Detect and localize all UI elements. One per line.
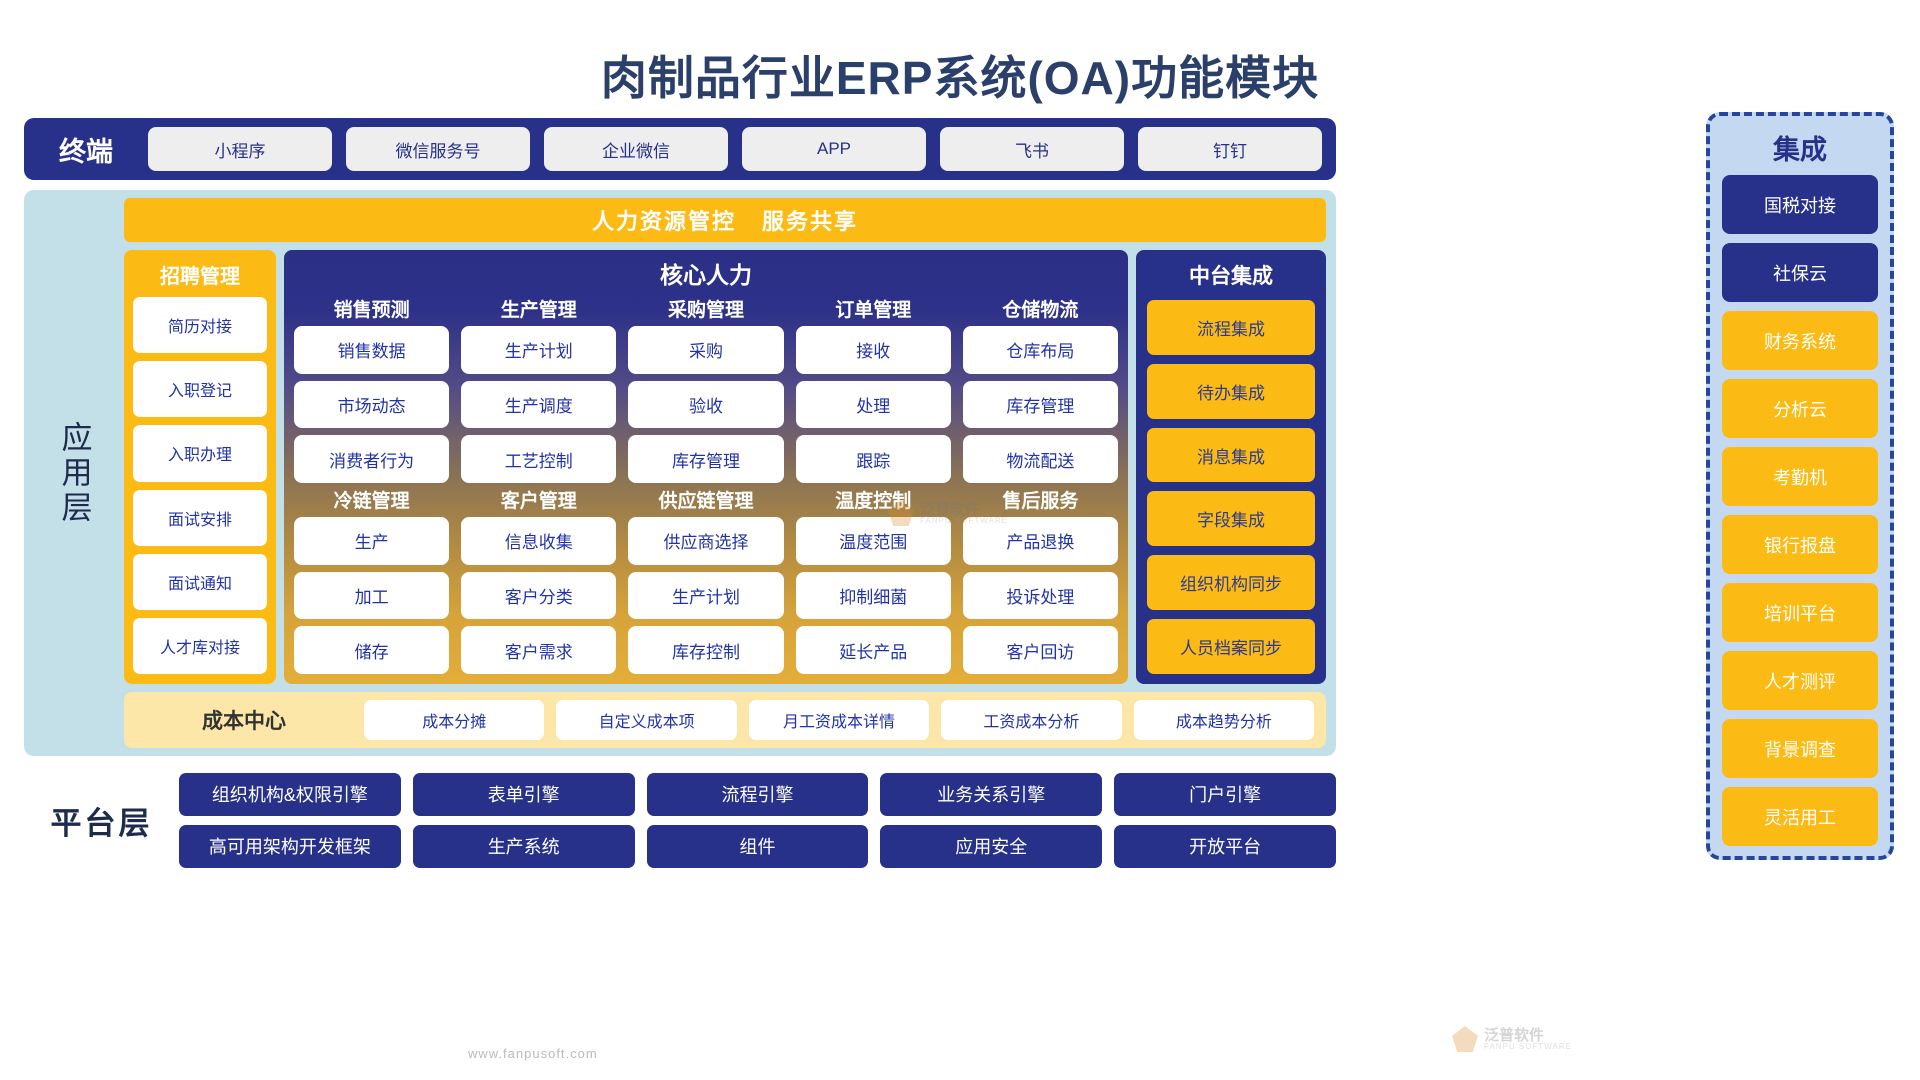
core-cell-temp-range[interactable]: 温度范围 bbox=[796, 517, 951, 565]
platform-item-ha-framework[interactable]: 高可用架构开发框架 bbox=[179, 825, 401, 868]
core-head-sales-forecast: 销售预测 bbox=[294, 295, 449, 322]
midplatform-item-list: 流程集成 待办集成 消息集成 字段集成 组织机构同步 人员档案同步 bbox=[1147, 300, 1315, 674]
application-layer-label: 应用层 bbox=[52, 421, 97, 526]
core-block-1-heads: 销售预测 生产管理 采购管理 订单管理 仓储物流 bbox=[294, 292, 1118, 326]
watermark-brand: 泛普软件 bbox=[1484, 1028, 1572, 1043]
core-head-cold-chain: 冷链管理 bbox=[294, 486, 449, 513]
core-block-2-cells: 生产 信息收集 供应商选择 温度范围 产品退换 加工 客户分类 生产计划 bbox=[294, 517, 1118, 674]
core-cell-production-schedule[interactable]: 生产调度 bbox=[461, 381, 616, 429]
core-cell-inventory-control[interactable]: 库存控制 bbox=[628, 626, 783, 674]
core-block-1-row-2: 市场动态 生产调度 验收 处理 库存管理 bbox=[294, 381, 1118, 429]
core-cell-sc-production-plan[interactable]: 生产计划 bbox=[628, 572, 783, 620]
platform-layer-grid: 组织机构&权限引擎 表单引擎 流程引擎 业务关系引擎 门户引擎 高可用架构开发框… bbox=[179, 773, 1336, 868]
core-hr-grid: 销售预测 生产管理 采购管理 订单管理 仓储物流 销售数据 生产计划 bbox=[294, 292, 1118, 674]
midplat-item-org-sync[interactable]: 组织机构同步 bbox=[1147, 555, 1315, 610]
terminal-item-app[interactable]: APP bbox=[742, 127, 926, 171]
page-title: 肉制品行业ERP系统(OA)功能模块 bbox=[0, 42, 1920, 108]
core-cell-inventory-mgmt[interactable]: 库存管理 bbox=[963, 381, 1118, 429]
core-cell-customer-demand[interactable]: 客户需求 bbox=[461, 626, 616, 674]
watermark-url: www.fanpusoft.com bbox=[468, 1046, 598, 1061]
core-cell-cc-production[interactable]: 生产 bbox=[294, 517, 449, 565]
terminal-label: 终端 bbox=[24, 130, 148, 169]
recruit-item-resume[interactable]: 简历对接 bbox=[133, 297, 267, 353]
core-block-1-row-3: 消费者行为 工艺控制 库存管理 跟踪 物流配送 bbox=[294, 435, 1118, 483]
core-cell-production-plan[interactable]: 生产计划 bbox=[461, 326, 616, 374]
core-block-2-row-2: 加工 客户分类 生产计划 抑制细菌 投诉处理 bbox=[294, 572, 1118, 620]
terminal-item-wecom[interactable]: 企业微信 bbox=[544, 127, 728, 171]
terminal-item-miniprogram[interactable]: 小程序 bbox=[148, 127, 332, 171]
integration-item-analytics-cloud[interactable]: 分析云 bbox=[1722, 379, 1878, 438]
recruit-item-onboard-process[interactable]: 入职办理 bbox=[133, 425, 267, 481]
recruit-item-onboard-register[interactable]: 入职登记 bbox=[133, 361, 267, 417]
integration-item-background-check[interactable]: 背景调查 bbox=[1722, 719, 1878, 778]
poster-root: 肉制品行业ERP系统(OA)功能模块 终端 小程序 微信服务号 企业微信 APP… bbox=[0, 0, 1920, 1080]
integration-item-list: 国税对接 社保云 财务系统 分析云 考勤机 银行报盘 培训平台 人才测评 背景调… bbox=[1722, 175, 1878, 846]
cost-center-label: 成本中心 bbox=[124, 705, 364, 735]
platform-item-portal-engine[interactable]: 门户引擎 bbox=[1114, 773, 1336, 816]
core-cell-warehouse-layout[interactable]: 仓库布局 bbox=[963, 326, 1118, 374]
core-cell-purchase[interactable]: 采购 bbox=[628, 326, 783, 374]
core-block-1-cells: 销售数据 生产计划 采购 接收 仓库布局 市场动态 生产调度 验收 bbox=[294, 326, 1118, 483]
core-head-order-mgmt: 订单管理 bbox=[796, 295, 951, 322]
integration-panel: 集成 国税对接 社保云 财务系统 分析云 考勤机 银行报盘 培训平台 人才测评 … bbox=[1706, 112, 1894, 860]
platform-item-process-engine[interactable]: 流程引擎 bbox=[647, 773, 869, 816]
core-head-customer-mgmt: 客户管理 bbox=[461, 486, 616, 513]
core-cell-receive[interactable]: 接收 bbox=[796, 326, 951, 374]
recruit-item-list: 简历对接 入职登记 入职办理 面试安排 面试通知 人才库对接 bbox=[133, 297, 267, 674]
recruit-item-interview-notice[interactable]: 面试通知 bbox=[133, 554, 267, 610]
core-cell-consumer-behavior[interactable]: 消费者行为 bbox=[294, 435, 449, 483]
core-cell-tracking[interactable]: 跟踪 bbox=[796, 435, 951, 483]
terminal-item-feishu[interactable]: 飞书 bbox=[940, 127, 1124, 171]
core-block-2-row-1: 生产 信息收集 供应商选择 温度范围 产品退换 bbox=[294, 517, 1118, 565]
watermark-bottom-right: 泛普软件 FANPU SOFTWARE bbox=[1452, 1026, 1572, 1052]
application-layer-body: 人力资源管控 服务共享 招聘管理 简历对接 入职登记 入职办理 面试安排 面试通… bbox=[124, 190, 1336, 756]
integration-item-talent-assessment[interactable]: 人才测评 bbox=[1722, 651, 1878, 710]
core-hr-title: 核心人力 bbox=[294, 256, 1118, 290]
integration-item-tax[interactable]: 国税对接 bbox=[1722, 175, 1878, 234]
integration-item-bank-offer[interactable]: 银行报盘 bbox=[1722, 515, 1878, 574]
core-cell-market-trend[interactable]: 市场动态 bbox=[294, 381, 449, 429]
platform-item-app-security[interactable]: 应用安全 bbox=[880, 825, 1102, 868]
terminal-item-list: 小程序 微信服务号 企业微信 APP 飞书 钉钉 bbox=[148, 127, 1336, 171]
core-cell-stock-mgmt[interactable]: 库存管理 bbox=[628, 435, 783, 483]
recruit-item-interview-schedule[interactable]: 面试安排 bbox=[133, 490, 267, 546]
core-cell-customer-revisit[interactable]: 客户回访 bbox=[963, 626, 1118, 674]
core-cell-supplier-selection[interactable]: 供应商选择 bbox=[628, 517, 783, 565]
core-cell-processing[interactable]: 处理 bbox=[796, 381, 951, 429]
cost-item-monthly-salary-detail[interactable]: 月工资成本详情 bbox=[749, 700, 929, 740]
platform-item-open-platform[interactable]: 开放平台 bbox=[1114, 825, 1336, 868]
cost-item-custom[interactable]: 自定义成本项 bbox=[556, 700, 736, 740]
midplatform-integration-panel: 中台集成 流程集成 待办集成 消息集成 字段集成 组织机构同步 人员档案同步 bbox=[1136, 250, 1326, 684]
core-block-1: 销售预测 生产管理 采购管理 订单管理 仓储物流 销售数据 生产计划 bbox=[294, 292, 1118, 483]
terminal-item-wechat-service[interactable]: 微信服务号 bbox=[346, 127, 530, 171]
core-block-2-row-3: 储存 客户需求 库存控制 延长产品 客户回访 bbox=[294, 626, 1118, 674]
platform-item-business-relation-engine[interactable]: 业务关系引擎 bbox=[880, 773, 1102, 816]
integration-item-social-insurance-cloud[interactable]: 社保云 bbox=[1722, 243, 1878, 302]
platform-item-production-system[interactable]: 生产系统 bbox=[413, 825, 635, 868]
application-layer: 应用层 人力资源管控 服务共享 招聘管理 简历对接 入职登记 入职办理 面试安排 bbox=[24, 190, 1336, 756]
hr-banner-right: 服务共享 bbox=[762, 204, 858, 236]
watermark-text-wrap: 泛普软件 FANPU SOFTWARE bbox=[1484, 1028, 1572, 1051]
core-cell-logistics-delivery[interactable]: 物流配送 bbox=[963, 435, 1118, 483]
recruit-management-panel: 招聘管理 简历对接 入职登记 入职办理 面试安排 面试通知 人才库对接 bbox=[124, 250, 276, 684]
core-cell-customer-category[interactable]: 客户分类 bbox=[461, 572, 616, 620]
cost-item-allocation[interactable]: 成本分摊 bbox=[364, 700, 544, 740]
midplat-item-field[interactable]: 字段集成 bbox=[1147, 491, 1315, 546]
integration-item-finance-system[interactable]: 财务系统 bbox=[1722, 311, 1878, 370]
midplat-item-process[interactable]: 流程集成 bbox=[1147, 300, 1315, 355]
core-cell-info-collect[interactable]: 信息收集 bbox=[461, 517, 616, 565]
platform-item-form-engine[interactable]: 表单引擎 bbox=[413, 773, 635, 816]
watermark-brand-en: FANPU SOFTWARE bbox=[1484, 1043, 1572, 1051]
platform-item-org-permission-engine[interactable]: 组织机构&权限引擎 bbox=[179, 773, 401, 816]
midplat-item-personnel-sync[interactable]: 人员档案同步 bbox=[1147, 619, 1315, 674]
midplat-item-todo[interactable]: 待办集成 bbox=[1147, 364, 1315, 419]
platform-item-components[interactable]: 组件 bbox=[647, 825, 869, 868]
platform-layer-label: 平台层 bbox=[24, 798, 179, 843]
integration-item-flexible-employment[interactable]: 灵活用工 bbox=[1722, 787, 1878, 846]
cost-center-row: 成本中心 成本分摊 自定义成本项 月工资成本详情 工资成本分析 成本趋势分析 bbox=[124, 692, 1326, 748]
core-head-temperature-control: 温度控制 bbox=[796, 486, 951, 513]
core-block-2-heads: 冷链管理 客户管理 供应链管理 温度控制 售后服务 bbox=[294, 483, 1118, 517]
application-middle-row: 招聘管理 简历对接 入职登记 入职办理 面试安排 面试通知 人才库对接 核心人力 bbox=[124, 250, 1326, 684]
core-head-warehouse-logistics: 仓储物流 bbox=[963, 295, 1118, 322]
core-hr-panel: 核心人力 销售预测 生产管理 采购管理 订单管理 仓储物流 bbox=[284, 250, 1128, 684]
core-cell-sales-data[interactable]: 销售数据 bbox=[294, 326, 449, 374]
brand-logo-icon bbox=[1452, 1026, 1478, 1052]
platform-layer: 平台层 组织机构&权限引擎 表单引擎 流程引擎 业务关系引擎 门户引擎 高可用架… bbox=[24, 765, 1336, 875]
midplatform-title: 中台集成 bbox=[1147, 260, 1315, 290]
core-cell-product-return[interactable]: 产品退换 bbox=[963, 517, 1118, 565]
cost-item-trend-analysis[interactable]: 成本趋势分析 bbox=[1134, 700, 1314, 740]
core-cell-complaint-handling[interactable]: 投诉处理 bbox=[963, 572, 1118, 620]
recruit-item-talent-pool[interactable]: 人才库对接 bbox=[133, 618, 267, 674]
midplat-item-message[interactable]: 消息集成 bbox=[1147, 428, 1315, 483]
core-head-supply-chain: 供应链管理 bbox=[628, 486, 783, 513]
cost-center-item-list: 成本分摊 自定义成本项 月工资成本详情 工资成本分析 成本趋势分析 bbox=[364, 700, 1314, 740]
core-cell-cc-storage[interactable]: 储存 bbox=[294, 626, 449, 674]
cost-item-salary-analysis[interactable]: 工资成本分析 bbox=[941, 700, 1121, 740]
core-head-production-mgmt: 生产管理 bbox=[461, 295, 616, 322]
hr-banner: 人力资源管控 服务共享 bbox=[124, 198, 1326, 242]
core-head-purchase-mgmt: 采购管理 bbox=[628, 295, 783, 322]
integration-item-attendance-machine[interactable]: 考勤机 bbox=[1722, 447, 1878, 506]
core-cell-inhibit-bacteria[interactable]: 抑制细菌 bbox=[796, 572, 951, 620]
recruit-management-title: 招聘管理 bbox=[133, 260, 267, 289]
integration-title: 集成 bbox=[1722, 124, 1878, 175]
platform-row-2: 高可用架构开发框架 生产系统 组件 应用安全 开放平台 bbox=[179, 825, 1336, 868]
core-block-1-row-1: 销售数据 生产计划 采购 接收 仓库布局 bbox=[294, 326, 1118, 374]
core-head-after-sales: 售后服务 bbox=[963, 486, 1118, 513]
integration-item-training-platform[interactable]: 培训平台 bbox=[1722, 583, 1878, 642]
hr-banner-left: 人力资源管控 bbox=[592, 204, 736, 236]
platform-row-1: 组织机构&权限引擎 表单引擎 流程引擎 业务关系引擎 门户引擎 bbox=[179, 773, 1336, 816]
terminal-bar: 终端 小程序 微信服务号 企业微信 APP 飞书 钉钉 bbox=[24, 118, 1336, 180]
core-cell-cc-processing[interactable]: 加工 bbox=[294, 572, 449, 620]
core-cell-process-control[interactable]: 工艺控制 bbox=[461, 435, 616, 483]
terminal-item-dingtalk[interactable]: 钉钉 bbox=[1138, 127, 1322, 171]
core-cell-inspection[interactable]: 验收 bbox=[628, 381, 783, 429]
core-cell-extend-product[interactable]: 延长产品 bbox=[796, 626, 951, 674]
application-layer-label-wrap: 应用层 bbox=[24, 190, 124, 756]
core-block-2: 冷链管理 客户管理 供应链管理 温度控制 售后服务 生产 信息收集 供 bbox=[294, 483, 1118, 674]
